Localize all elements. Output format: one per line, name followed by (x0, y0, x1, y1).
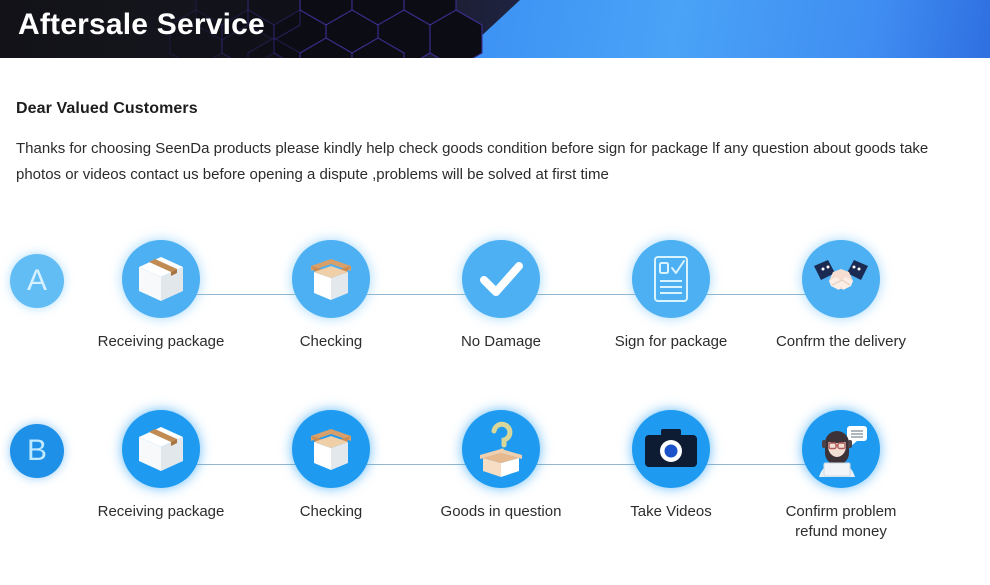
step-circle (122, 240, 200, 318)
step-label: Confirm problem refund money (786, 502, 897, 542)
page-title: Aftersale Service (18, 8, 265, 42)
handshake-icon (812, 256, 870, 302)
flow-step-receiving-package[interactable]: Receiving package (86, 410, 236, 522)
flow-step-no-damage[interactable]: No Damage (426, 240, 576, 352)
flow-step-take-videos[interactable]: Take Videos (596, 410, 746, 522)
checkmark-icon (475, 253, 527, 305)
flow-badge-b: B (10, 424, 64, 478)
intro-paragraph: Thanks for choosing SeenDa products plea… (16, 136, 966, 188)
aftersale-service-page: Aftersale Service Dear Valued Customers … (0, 0, 990, 585)
flow-track-a: Receiving package Checking (78, 240, 978, 380)
closed-box-icon (133, 253, 189, 305)
intro-block: Dear Valued Customers Thanks for choosin… (16, 100, 966, 188)
flow-step-checking[interactable]: Checking (256, 240, 406, 352)
step-circle (802, 410, 880, 488)
flow-step-confirm-refund[interactable]: Confirm problem refund money (766, 410, 916, 542)
camera-icon (643, 427, 699, 471)
step-circle (632, 410, 710, 488)
question-box-icon (472, 419, 530, 479)
step-label: Receiving package (98, 502, 225, 522)
step-circle (292, 410, 370, 488)
step-circle (632, 240, 710, 318)
step-circle (292, 240, 370, 318)
step-label: Receiving package (98, 332, 225, 352)
header-banner: Aftersale Service (0, 0, 990, 58)
flow-step-goods-in-question[interactable]: Goods in question (426, 410, 576, 522)
open-box-icon (302, 423, 360, 475)
step-circle (802, 240, 880, 318)
flow-row-a: A Receiving package (0, 240, 990, 380)
step-label: Checking (300, 332, 363, 352)
step-label: Sign for package (615, 332, 728, 352)
signed-document-icon (647, 253, 695, 305)
step-label: No Damage (461, 332, 541, 352)
step-circle (462, 240, 540, 318)
step-label: Goods in question (441, 502, 562, 522)
support-agent-icon (811, 421, 871, 477)
step-circle (462, 410, 540, 488)
flow-step-receiving-package[interactable]: Receiving package (86, 240, 236, 352)
flow-track-b: Receiving package Checking (78, 410, 978, 550)
step-label: Checking (300, 502, 363, 522)
flow-badge-a: A (10, 254, 64, 308)
open-box-icon (302, 253, 360, 305)
flow-step-sign-for-package[interactable]: Sign for package (596, 240, 746, 352)
flow-row-b: B Receiving package (0, 410, 990, 550)
salutation-text: Dear Valued Customers (16, 100, 966, 118)
step-circle (122, 410, 200, 488)
step-label: Confrm the delivery (776, 332, 906, 352)
step-label: Take Videos (630, 502, 711, 522)
closed-box-icon (133, 423, 189, 475)
flow-step-confirm-delivery[interactable]: Confrm the delivery (766, 240, 916, 352)
flow-step-checking[interactable]: Checking (256, 410, 406, 522)
